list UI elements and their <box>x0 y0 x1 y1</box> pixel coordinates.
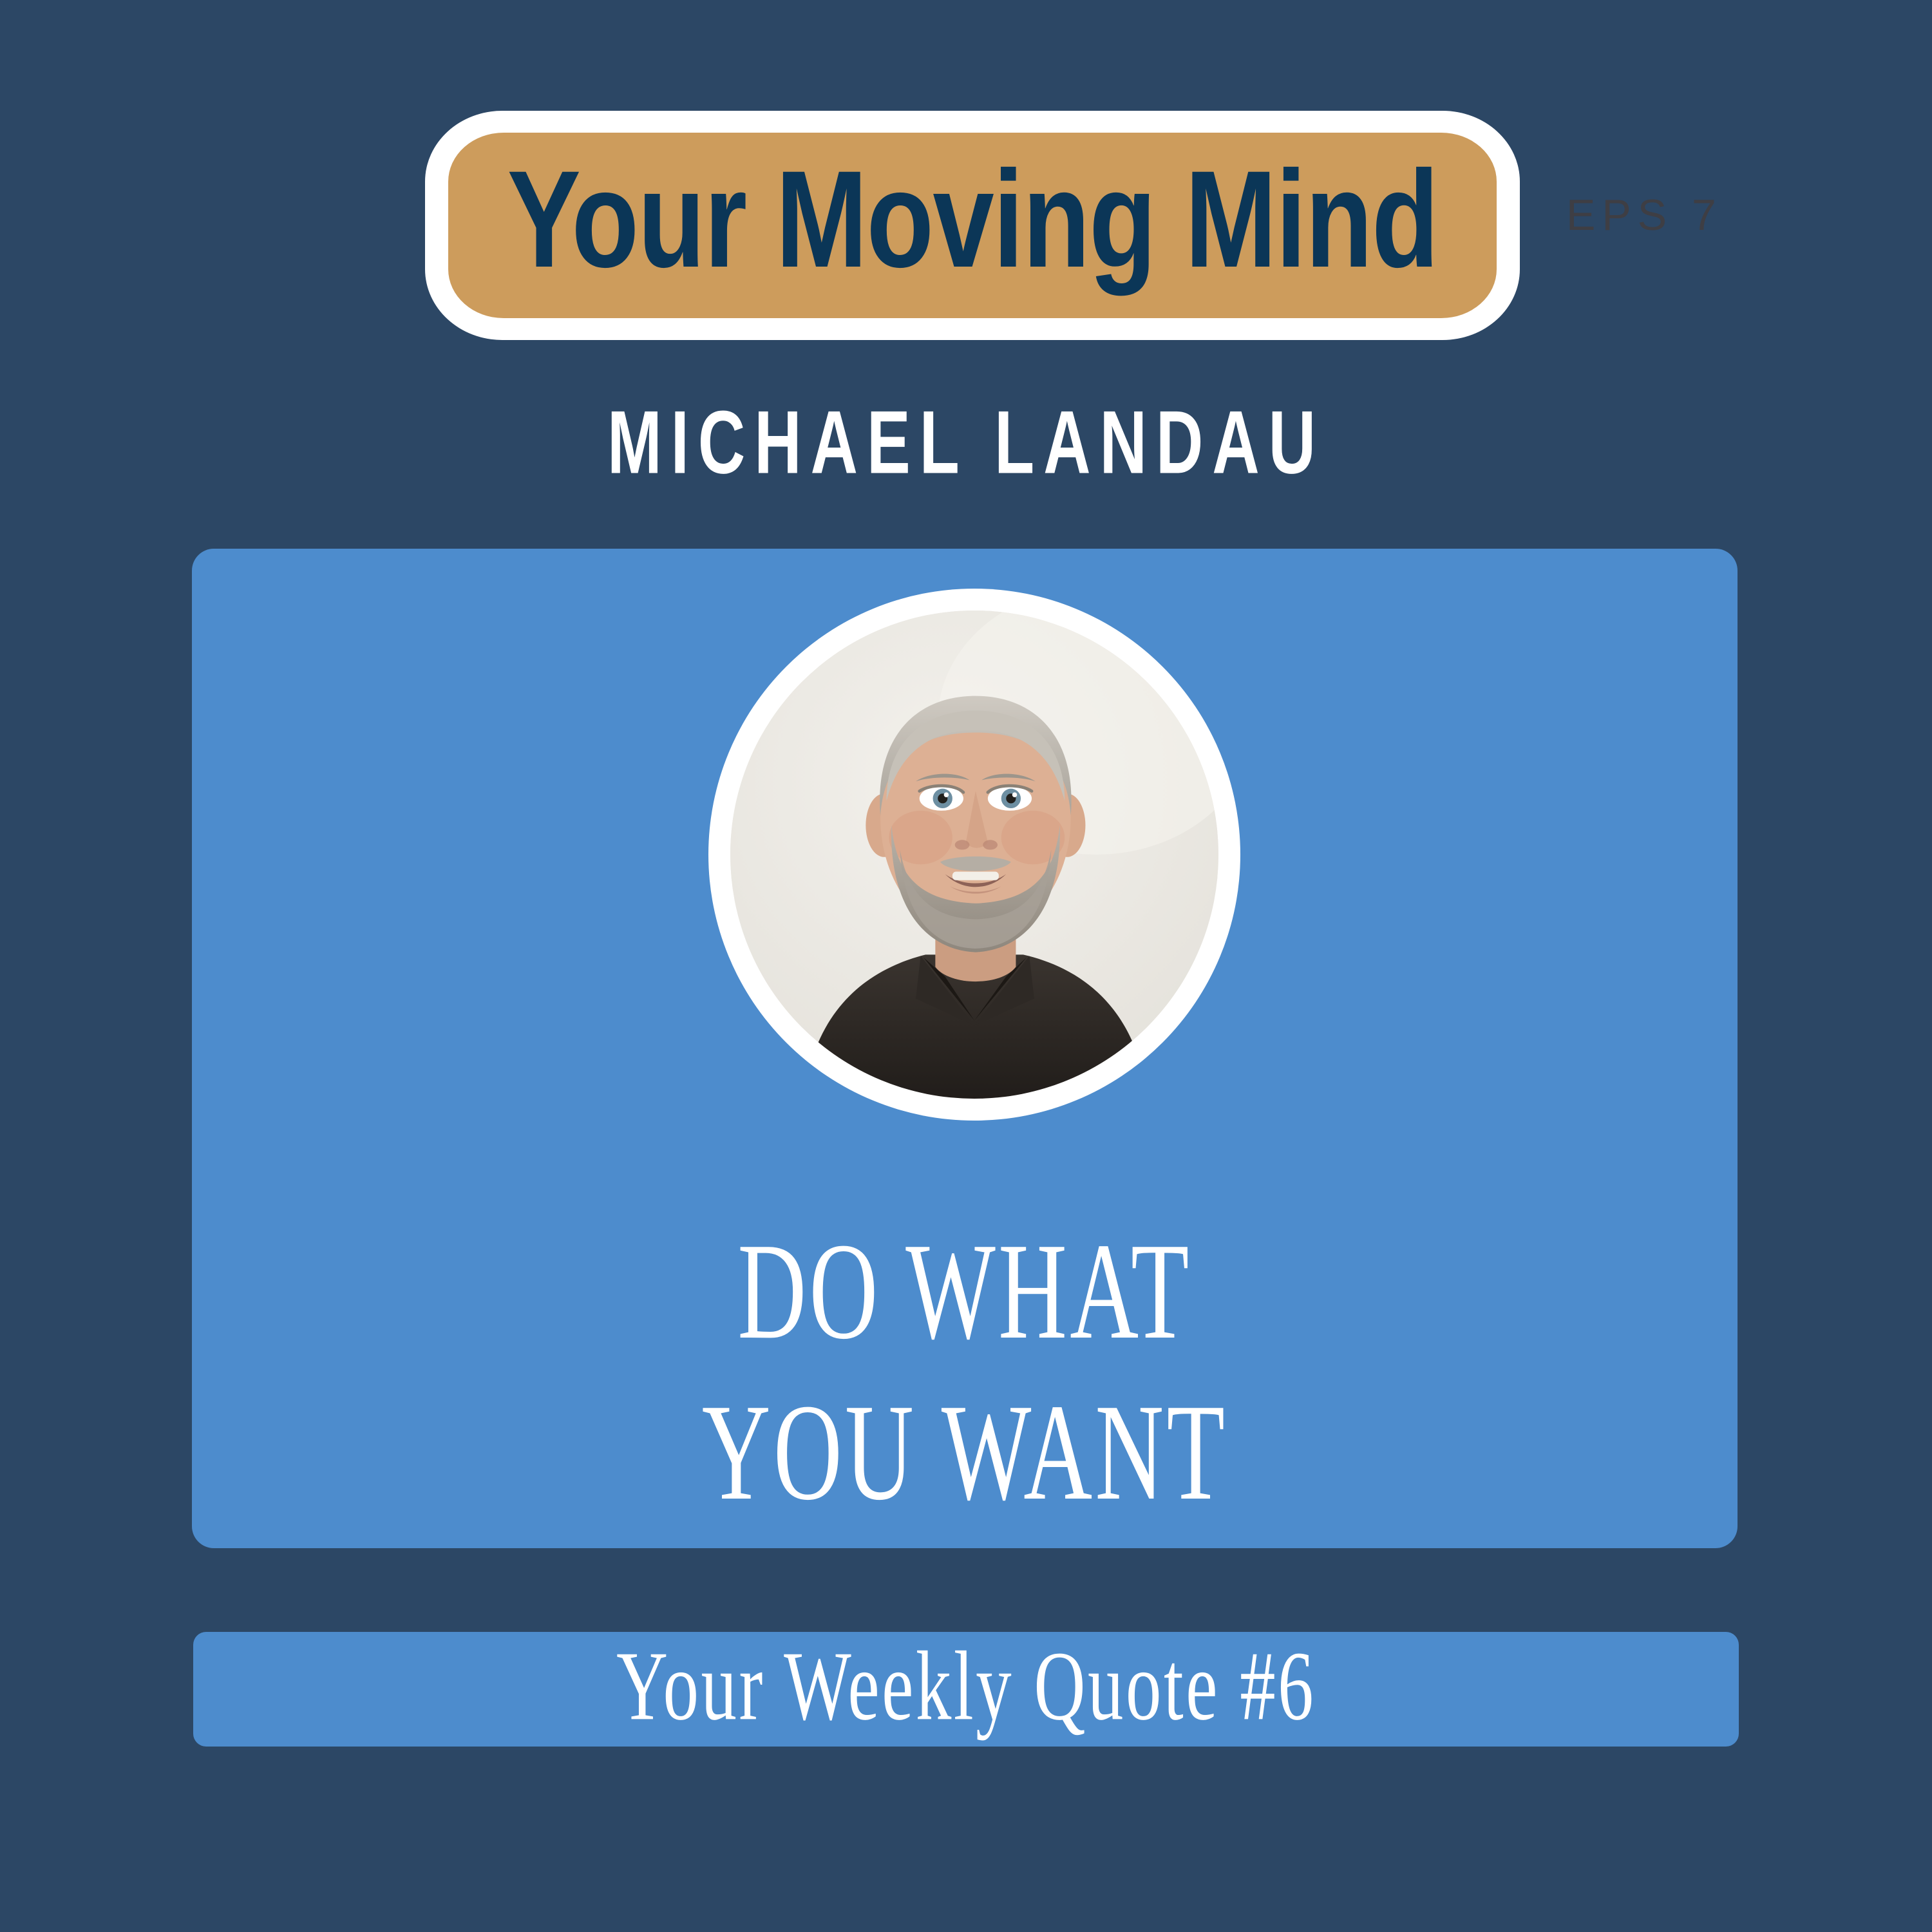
quote-line-1: DO WHAT <box>300 1212 1629 1372</box>
speaker-avatar <box>708 589 1240 1121</box>
quote-text: DO WHAT YOU WANT <box>300 1212 1629 1533</box>
speaker-name: MICHAEL LANDAU <box>174 398 1758 488</box>
show-logo-plate: Your Moving Mind <box>448 133 1497 318</box>
show-logo-badge: Your Moving Mind <box>425 111 1520 340</box>
podcast-quote-poster: Your Moving Mind EPS 7 MICHAEL LANDAU <box>0 0 1932 1932</box>
series-banner-label: Your Weekly Quote #6 <box>616 1637 1316 1741</box>
quote-line-2: YOU WANT <box>300 1372 1629 1533</box>
quote-card: DO WHAT YOU WANT <box>192 549 1738 1548</box>
series-banner: Your Weekly Quote #6 <box>193 1632 1739 1747</box>
show-title: Your Moving Mind <box>507 151 1437 300</box>
avatar-photo-clip <box>730 611 1218 1099</box>
episode-number-tag: EPS 7 <box>1566 193 1723 237</box>
speaker-photo <box>730 611 1218 1099</box>
